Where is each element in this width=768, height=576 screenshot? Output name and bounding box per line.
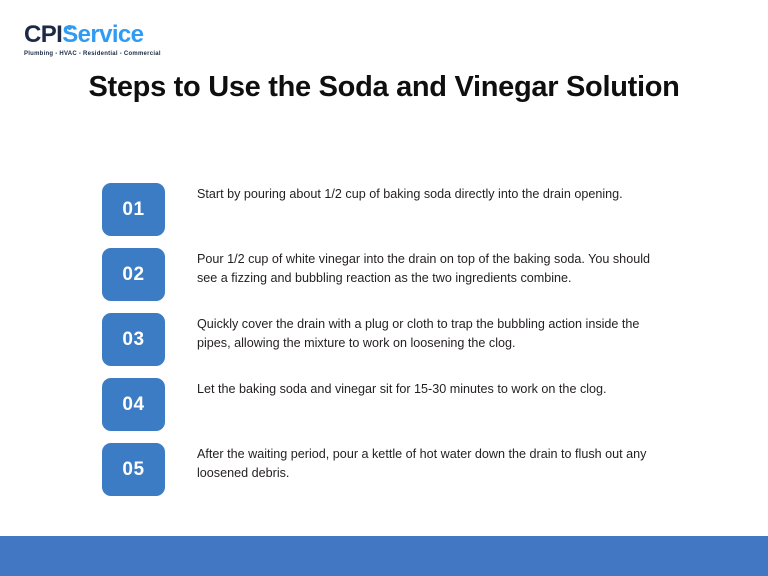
step-number-badge: 05 <box>102 443 165 496</box>
logo-tagline: Plumbing - HVAC - Residential - Commerci… <box>24 51 161 57</box>
logo-wordmark: CPIService <box>24 23 161 47</box>
steps-list: 01 Start by pouring about 1/2 cup of bak… <box>102 183 662 508</box>
slide-canvas: CPIService Plumbing - HVAC - Residential… <box>0 0 768 576</box>
page-title: Steps to Use the Soda and Vinegar Soluti… <box>84 68 684 107</box>
step-description: Let the baking soda and vinegar sit for … <box>197 378 659 399</box>
step-row: 05 After the waiting period, pour a kett… <box>102 443 662 508</box>
step-description: Quickly cover the drain with a plug or c… <box>197 313 659 353</box>
footer-accent-bar <box>0 536 768 576</box>
step-row: 03 Quickly cover the drain with a plug o… <box>102 313 662 378</box>
logo-text-service: Service <box>62 21 143 48</box>
logo-text-cpi: CPI <box>24 21 62 48</box>
step-description: After the waiting period, pour a kettle … <box>197 443 659 483</box>
step-number-badge: 03 <box>102 313 165 366</box>
step-description: Start by pouring about 1/2 cup of baking… <box>197 183 659 204</box>
logo-accent-dot-icon <box>67 25 72 30</box>
step-number-badge: 02 <box>102 248 165 301</box>
step-row: 04 Let the baking soda and vinegar sit f… <box>102 378 662 443</box>
brand-logo: CPIService Plumbing - HVAC - Residential… <box>24 23 161 57</box>
step-number-badge: 01 <box>102 183 165 236</box>
step-description: Pour 1/2 cup of white vinegar into the d… <box>197 248 659 288</box>
step-number-badge: 04 <box>102 378 165 431</box>
step-row: 01 Start by pouring about 1/2 cup of bak… <box>102 183 662 248</box>
step-row: 02 Pour 1/2 cup of white vinegar into th… <box>102 248 662 313</box>
